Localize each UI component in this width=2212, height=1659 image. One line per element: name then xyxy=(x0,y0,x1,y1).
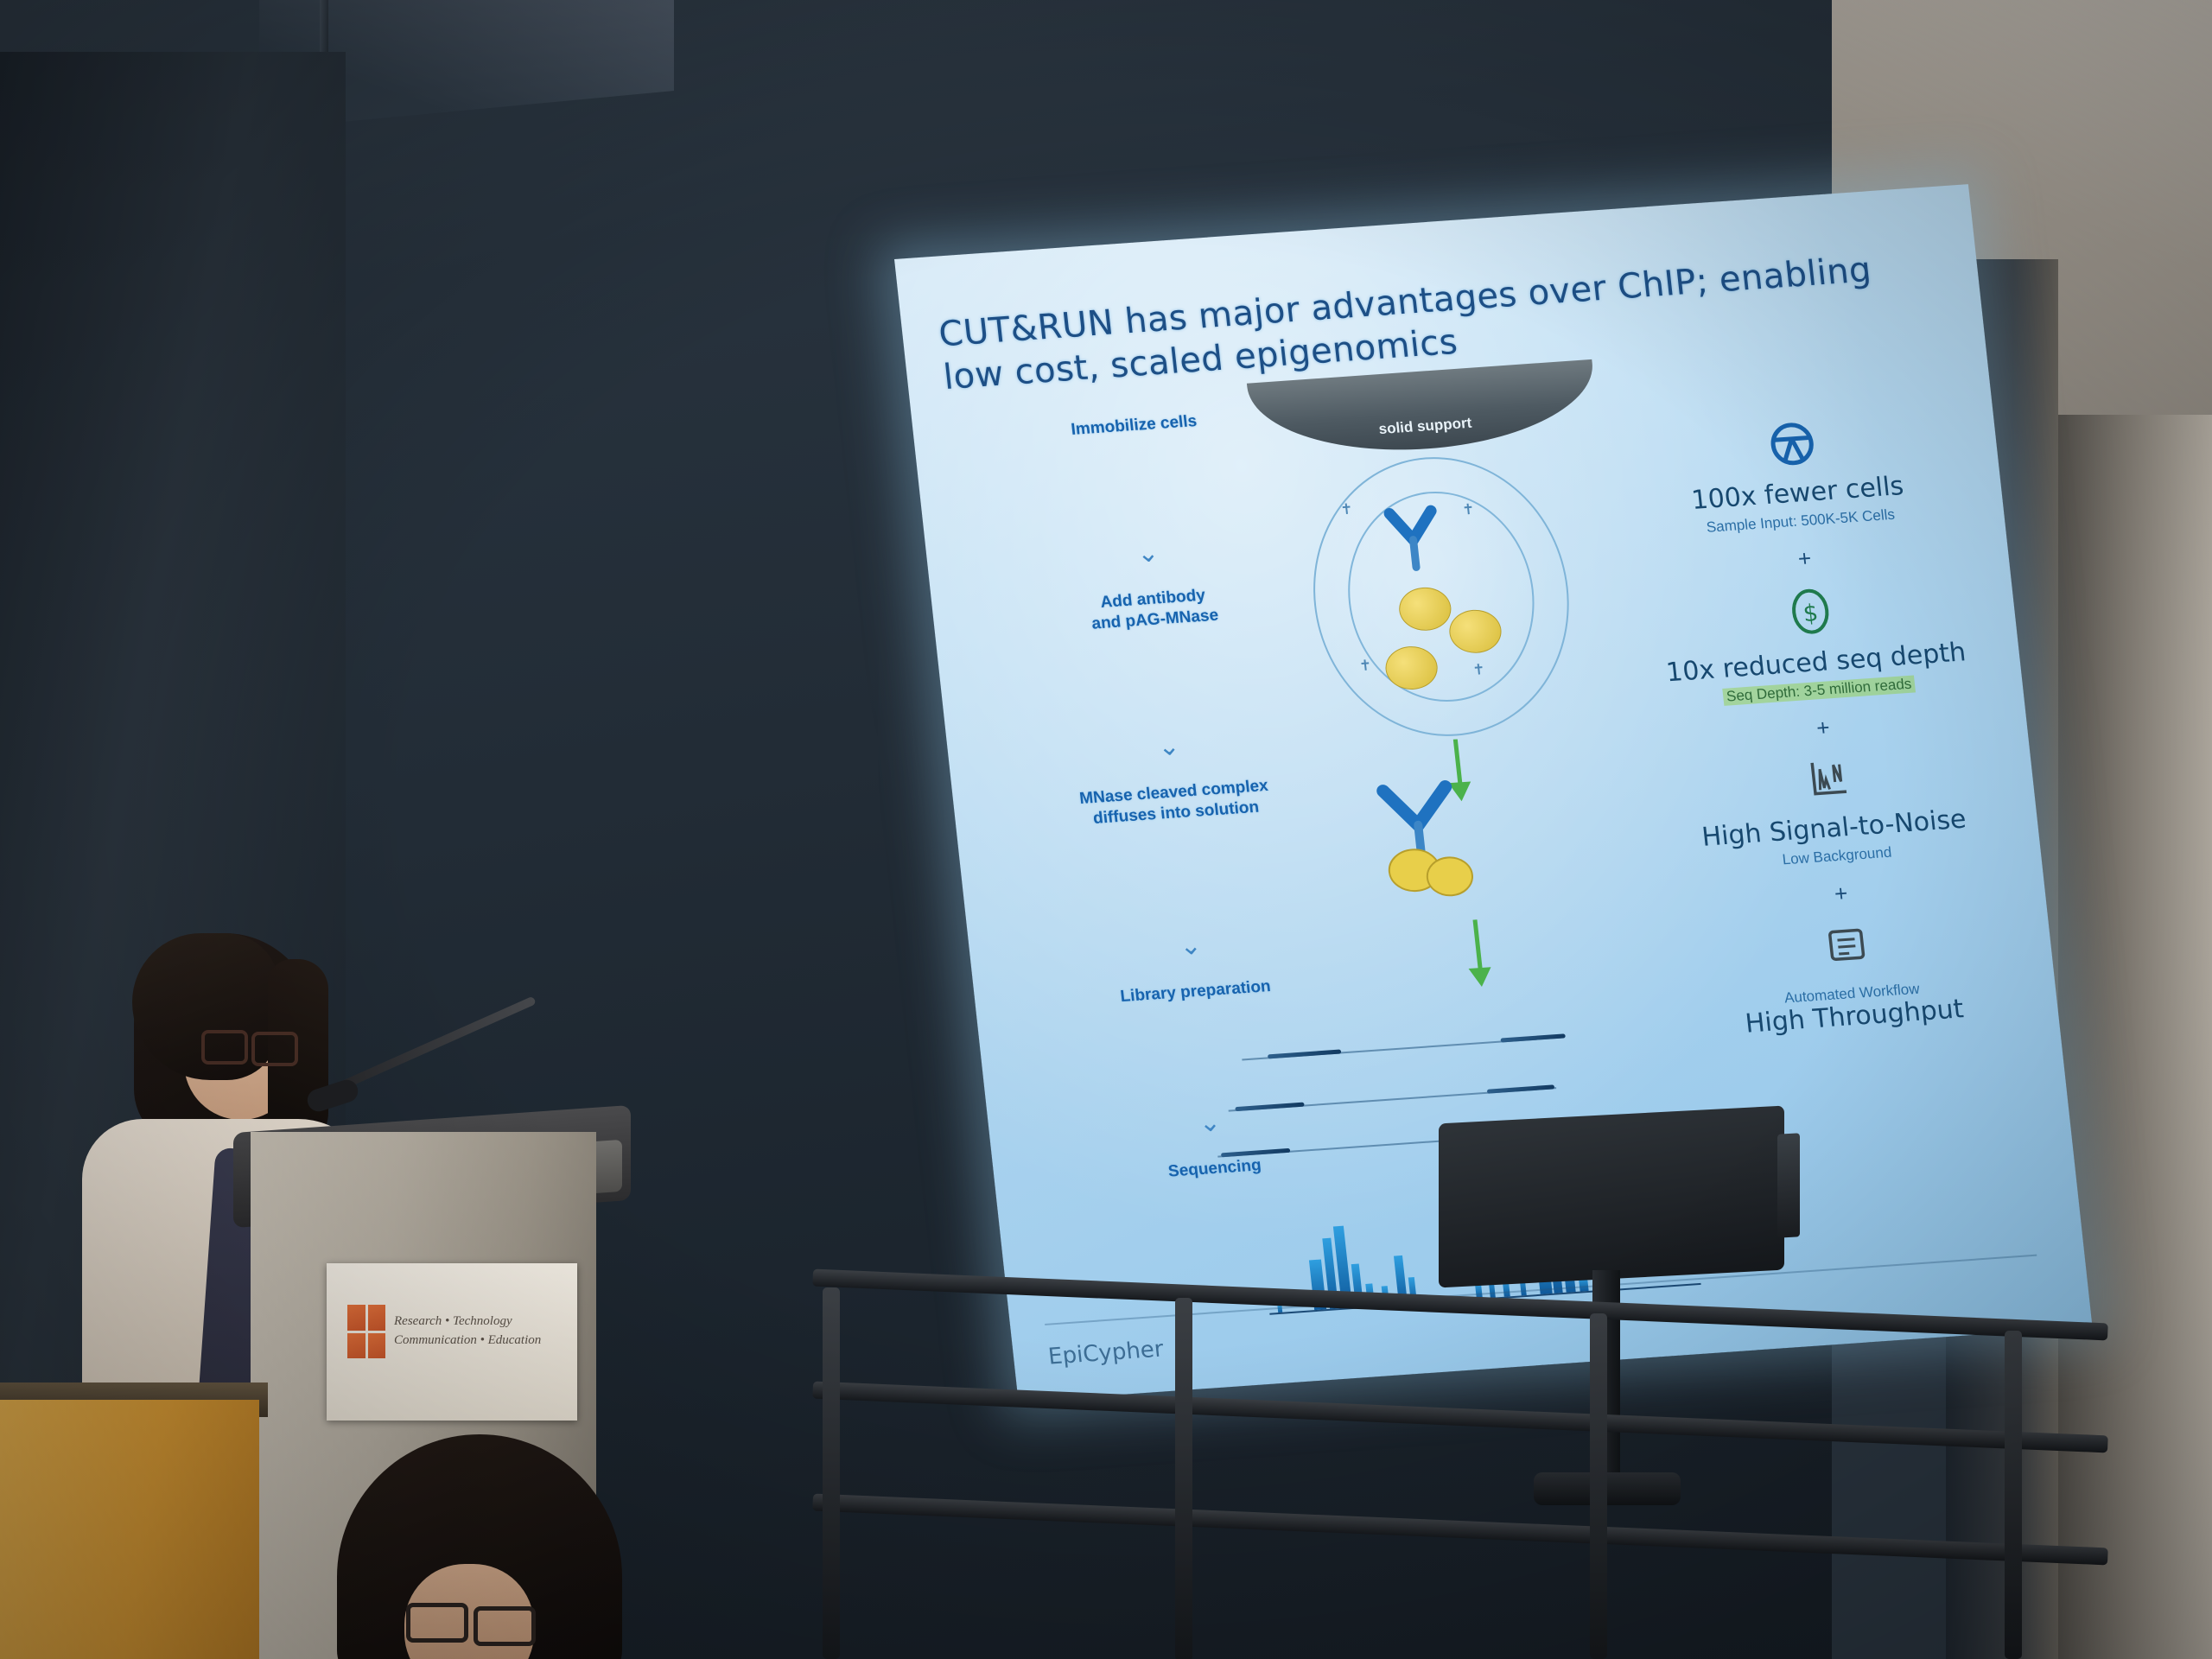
plus-separator-3: + xyxy=(1667,868,2015,919)
antibody-icon xyxy=(1380,503,1450,576)
workflow-arrow-icon-3: ⌄ xyxy=(1065,925,1318,968)
chromatin-mark-icon-4: ✝ xyxy=(1471,661,1485,679)
benefit-seq-depth: $ 10x reduced seq depth Seq Depth: 3-5 m… xyxy=(1636,575,1993,711)
cell-diagram: ✝ ✝ ✝ ✝ xyxy=(1300,448,1583,745)
side-table-cloth xyxy=(0,1400,259,1659)
chromatin-mark-icon-3: ✝ xyxy=(1358,657,1372,675)
benefit-signal-to-noise: High Signal-to-Noise Low Background xyxy=(1654,745,2011,877)
podium-sign-text: Research • Technology Communication • Ed… xyxy=(394,1313,541,1351)
plus-separator-1: + xyxy=(1630,533,1979,584)
chromatin-mark-icon: ✝ xyxy=(1339,501,1353,519)
workflow-arrow-icon: ⌄ xyxy=(1021,532,1274,575)
workflow-arrow-icon-4: ⌄ xyxy=(1084,1102,1337,1145)
audience-member xyxy=(285,1434,752,1659)
workflow-column: Immobilize cells ⌄ Add antibody and pAG-… xyxy=(1007,407,1340,1187)
podium-sign-line-1: Research • Technology xyxy=(394,1313,541,1332)
signal-chart-icon xyxy=(1803,755,1855,803)
benefits-column: 100x fewer cells Sample Input: 500K-5K C… xyxy=(1618,410,2029,1046)
solid-support-label: solid support xyxy=(1378,415,1474,452)
benefit-high-throughput: Automated Workflow High Throughput xyxy=(1672,911,2029,1043)
svg-text:$: $ xyxy=(1802,600,1819,627)
workflow-step-sequencing: Sequencing xyxy=(1089,1149,1341,1187)
audience-glasses-icon xyxy=(406,1603,536,1637)
dollar-coin-icon: $ xyxy=(1785,586,1835,637)
stage-railing xyxy=(812,1236,2108,1659)
presentation-photo: CUT&RUN has major advantages over ChIP; … xyxy=(0,0,2212,1659)
podium-sign: Research • Technology Communication • Ed… xyxy=(327,1263,577,1421)
podium-sign-line-2: Communication • Education xyxy=(394,1332,541,1351)
throughput-icon xyxy=(1821,921,1872,969)
speaker-glasses-icon xyxy=(201,1030,296,1059)
workflow-arrow-icon-2: ⌄ xyxy=(1043,726,1296,769)
chromatin-mark-icon-2: ✝ xyxy=(1461,501,1475,519)
organization-logo-icon xyxy=(347,1305,385,1358)
benefit-fewer-cells: 100x fewer cells Sample Input: 500K-5K C… xyxy=(1618,410,1974,542)
plus-separator-2: + xyxy=(1649,702,1998,753)
cells-icon xyxy=(1767,420,1817,467)
projector-lens xyxy=(1777,1133,1800,1237)
released-complex xyxy=(1359,772,1503,910)
